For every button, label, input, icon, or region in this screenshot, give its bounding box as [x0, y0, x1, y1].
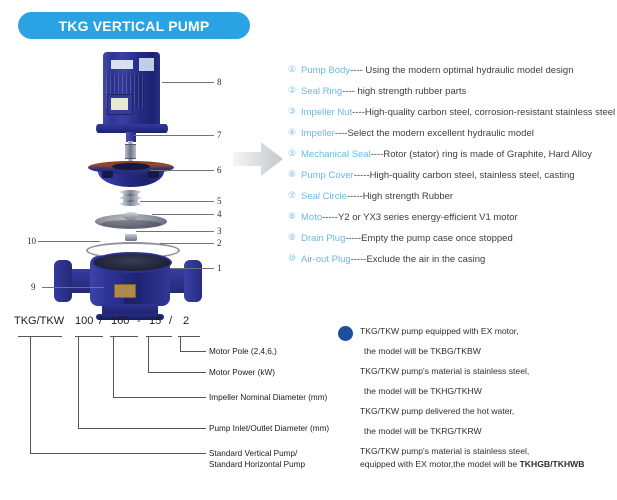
part-desc: -----Empty the pump case once stopped: [345, 233, 512, 244]
part-name: Drain Plug: [301, 233, 345, 244]
code-underline-power: [146, 336, 172, 337]
code-label-standard-v: Standard Vertical Pump/: [209, 448, 297, 459]
bullet-dot-icon: [338, 326, 353, 341]
part-desc: ----High-quality carbon steel, corrosion…: [352, 107, 615, 118]
leader-v-inlet: [78, 336, 79, 428]
legend-line-2: the model will be TKBG/TKBW: [364, 346, 481, 356]
model-variant-legend: TKG/TKW pump equipped with EX motor, the…: [336, 320, 617, 480]
list-index-icon: ⑧: [288, 207, 301, 228]
leader-h-standard: [30, 453, 206, 454]
part-name: Moto: [301, 212, 322, 223]
list-item: ⑨Drain Plug-----Empty the pump case once…: [288, 228, 617, 249]
leader-v-pole: [180, 336, 181, 351]
legend-line-3: TKG/TKW pump's material is stainless ste…: [360, 366, 529, 376]
leader-v-series: [30, 336, 31, 453]
motor-terminal-box-graphic: [107, 94, 133, 115]
list-index-icon: ⑩: [288, 249, 301, 270]
impeller-graphic: [95, 212, 167, 232]
list-item: ⑩Air-out Plug-----Exclude the air in the…: [288, 249, 617, 270]
callout-number-2: 2: [217, 238, 222, 248]
mechanical-seal-graphic: [120, 190, 141, 208]
part-desc: ---- high strength rubber parts: [342, 86, 466, 97]
legend-line-8-bold: TKHGB/TKHWB: [520, 459, 585, 469]
code-label-motor-pole: Motor Pole (2,4,6,): [209, 346, 277, 357]
legend-line-8: equipped with EX motor,the model will be…: [360, 459, 584, 469]
part-name: Seal Circle: [301, 191, 347, 202]
code-token-series: TKG/TKW: [14, 315, 64, 327]
motor-nameplate-graphic: [111, 60, 133, 69]
callout-number-5: 5: [217, 196, 222, 206]
legend-line-4: the model will be TKHG/TKHW: [364, 386, 482, 396]
callout-number-10: 10: [27, 236, 36, 246]
leader-h-power: [148, 372, 206, 373]
legend-line-1: TKG/TKW pump equipped with EX motor,: [360, 326, 519, 336]
legend-line-5: TKG/TKW pump delivered the hot water,: [360, 406, 514, 416]
callout-line-10: [38, 241, 100, 242]
legend-line-8-text: equipped with EX motor,the model will be: [360, 459, 520, 469]
callout-number-1: 1: [217, 263, 222, 273]
part-name: Air-out Plug: [301, 254, 351, 265]
code-token-impeller: 160: [111, 315, 129, 327]
model-code-breakdown: TKG/TKW 100 / 160 - 15 / 2 Motor Pole (2…: [0, 305, 330, 500]
callout-line-5: [140, 201, 214, 202]
code-token-slash-2: /: [169, 315, 172, 327]
code-token-power: 15: [149, 315, 161, 327]
leader-h-impeller: [113, 397, 206, 398]
code-underline-series: [18, 336, 62, 337]
code-token-dash: -: [137, 315, 141, 327]
legend-line-7: TKG/TKW pump's material is stainless ste…: [360, 446, 529, 456]
code-token-slash-1: /: [99, 315, 102, 327]
part-name: Pump Cover: [301, 170, 354, 181]
list-item: ⑤Mechanical Seal----Rotor (stator) ring …: [288, 144, 617, 165]
part-name: Mechanical Seal: [301, 149, 371, 160]
part-desc: -----High strength Rubber: [347, 191, 453, 202]
callout-line-8: [162, 82, 214, 83]
part-desc: ----Select the modern excellent hydrauli…: [335, 128, 534, 139]
list-item: ③Impeller Nut----High-quality carbon ste…: [288, 102, 617, 123]
leader-v-power: [148, 336, 149, 372]
page-title: TKG VERTICAL PUMP: [59, 18, 210, 34]
motor-label-graphic: [139, 58, 154, 71]
part-desc: ----Rotor (stator) ring is made of Graph…: [371, 149, 592, 160]
code-underline-impeller: [110, 336, 138, 337]
page-title-banner: TKG VERTICAL PUMP: [18, 12, 250, 39]
part-desc: ---- Using the modern optimal hydraulic …: [350, 65, 573, 76]
list-index-icon: ②: [288, 81, 301, 102]
list-item: ⑦Seal Circle-----High strength Rubber: [288, 186, 617, 207]
pump-cover-graphic: [88, 161, 174, 189]
callout-line-3: [136, 231, 214, 232]
code-label-impeller-dia: Impeller Nominal Diameter (mm): [209, 392, 327, 403]
part-name: Impeller: [301, 128, 335, 139]
code-label-inlet-dia: Pump Inlet/Outlet Diameter (mm): [209, 423, 329, 434]
callout-number-7: 7: [217, 130, 222, 140]
list-index-icon: ⑦: [288, 186, 301, 207]
callout-number-4: 4: [217, 209, 222, 219]
code-token-inlet: 100: [75, 315, 93, 327]
callout-number-9: 9: [31, 282, 36, 292]
right-arrow-icon: [231, 140, 285, 178]
list-index-icon: ①: [288, 60, 301, 81]
part-desc: -----High-quality carbon steel, stainles…: [354, 170, 575, 181]
model-code-string: TKG/TKW 100 / 160 - 15 / 2: [14, 315, 234, 331]
code-label-standard-h: Standard Horizontal Pump: [209, 459, 305, 470]
list-index-icon: ④: [288, 123, 301, 144]
list-index-icon: ⑥: [288, 165, 301, 186]
callout-number-3: 3: [217, 226, 222, 236]
shaft-coupling-graphic: [125, 144, 136, 159]
legend-line-6: the model will be TKRG/TKRW: [364, 426, 482, 436]
list-item: ②Seal Ring---- high strength rubber part…: [288, 81, 617, 102]
list-index-icon: ⑤: [288, 144, 301, 165]
callout-number-6: 6: [217, 165, 222, 175]
list-item: ⑧Moto-----Y2 or YX3 series energy-effici…: [288, 207, 617, 228]
callout-number-8: 8: [217, 77, 222, 87]
leader-h-inlet: [78, 428, 206, 429]
list-item: ①Pump Body---- Using the modern optimal …: [288, 60, 617, 81]
parts-list: ①Pump Body---- Using the modern optimal …: [288, 60, 617, 270]
page-root: TKG VERTICAL PUMP: [0, 0, 617, 500]
list-item: ④Impeller----Select the modern excellent…: [288, 123, 617, 144]
pump-exploded-diagram: 8 7 6 5 4 3 2 1 10 9: [0, 44, 270, 304]
impeller-nut-graphic: [125, 234, 137, 241]
callout-line-6: [150, 170, 214, 171]
code-underline-pole: [178, 336, 200, 337]
list-item: ⑥Pump Cover-----High-quality carbon stee…: [288, 165, 617, 186]
leader-h-pole: [180, 351, 206, 352]
code-token-pole: 2: [183, 315, 189, 327]
code-label-motor-power: Motor Power (kW): [209, 367, 275, 378]
part-name: Impeller Nut: [301, 107, 352, 118]
callout-line-1: [170, 268, 214, 269]
part-name: Seal Ring: [301, 86, 342, 97]
list-index-icon: ③: [288, 102, 301, 123]
leader-v-impeller: [113, 336, 114, 397]
callout-line-9: [42, 287, 104, 288]
callout-line-2: [160, 243, 214, 244]
part-desc: -----Exclude the air in the casing: [351, 254, 486, 265]
part-name: Pump Body: [301, 65, 350, 76]
callout-line-4: [152, 214, 214, 215]
list-index-icon: ⑨: [288, 228, 301, 249]
code-underline-inlet: [75, 336, 103, 337]
part-desc: -----Y2 or YX3 series energy-efficient V…: [322, 212, 518, 223]
callout-line-7: [134, 135, 214, 136]
